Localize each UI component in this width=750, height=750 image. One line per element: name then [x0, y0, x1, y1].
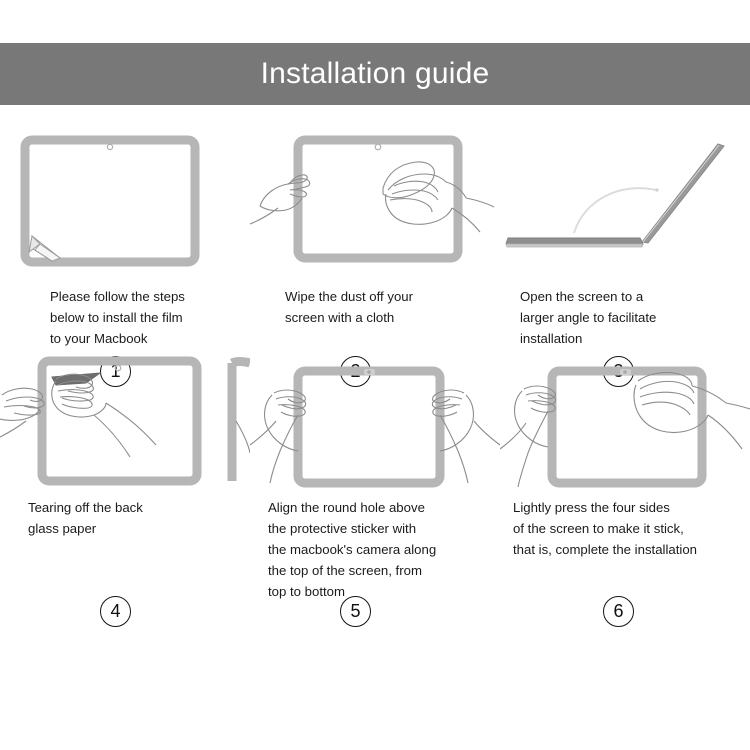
- macbook-screen-with-peeling-film-corner-icon: [0, 128, 250, 268]
- step-panel-2: Wipe the dust off your screen with a clo…: [250, 128, 500, 349]
- step-5-illustration: [250, 349, 500, 489]
- step-6-caption: Lightly press the four sides of the scre…: [513, 497, 750, 560]
- steps-grid: Please follow the steps below to install…: [0, 128, 750, 602]
- hands-wiping-screen-with-cloth-icon: [250, 128, 500, 268]
- step-number-4: 4: [100, 596, 131, 627]
- step-panel-5: Align the round hole above the protectiv…: [250, 349, 500, 602]
- page-title: Installation guide: [261, 57, 490, 91]
- header-bar: Installation guide: [0, 43, 750, 105]
- step-3-illustration: [500, 128, 750, 268]
- step-4-caption: Tearing off the back glass paper: [28, 497, 250, 539]
- step-panel-6: Lightly press the four sides of the scre…: [500, 349, 750, 602]
- step-1-caption: Please follow the steps below to install…: [50, 286, 250, 349]
- step-2-illustration: [250, 128, 500, 268]
- step-number-5: 5: [340, 596, 371, 627]
- step-panel-4: Tearing off the back glass paper 4: [0, 349, 250, 602]
- step-5-caption: Align the round hole above the protectiv…: [268, 497, 500, 602]
- step-1-illustration: [0, 128, 250, 268]
- step-panel-3: Open the screen to a larger angle to fac…: [500, 128, 750, 349]
- step-2-caption: Wipe the dust off your screen with a clo…: [285, 286, 500, 328]
- open-laptop-side-view-with-angle-arc-icon: [500, 128, 750, 268]
- hands-tearing-backing-paper-icon: [0, 349, 250, 489]
- two-hands-aligning-film-on-screen-icon: [250, 349, 500, 489]
- step-number-6: 6: [603, 596, 634, 627]
- step-panel-1: Please follow the steps below to install…: [0, 128, 250, 349]
- installation-guide-page: Installation guide Please follow the ste…: [0, 0, 750, 750]
- step-3-caption: Open the screen to a larger angle to fac…: [520, 286, 750, 349]
- step-6-illustration: [500, 349, 750, 489]
- step-4-illustration: [0, 349, 250, 489]
- hand-pressing-film-onto-screen-icon: [500, 349, 750, 489]
